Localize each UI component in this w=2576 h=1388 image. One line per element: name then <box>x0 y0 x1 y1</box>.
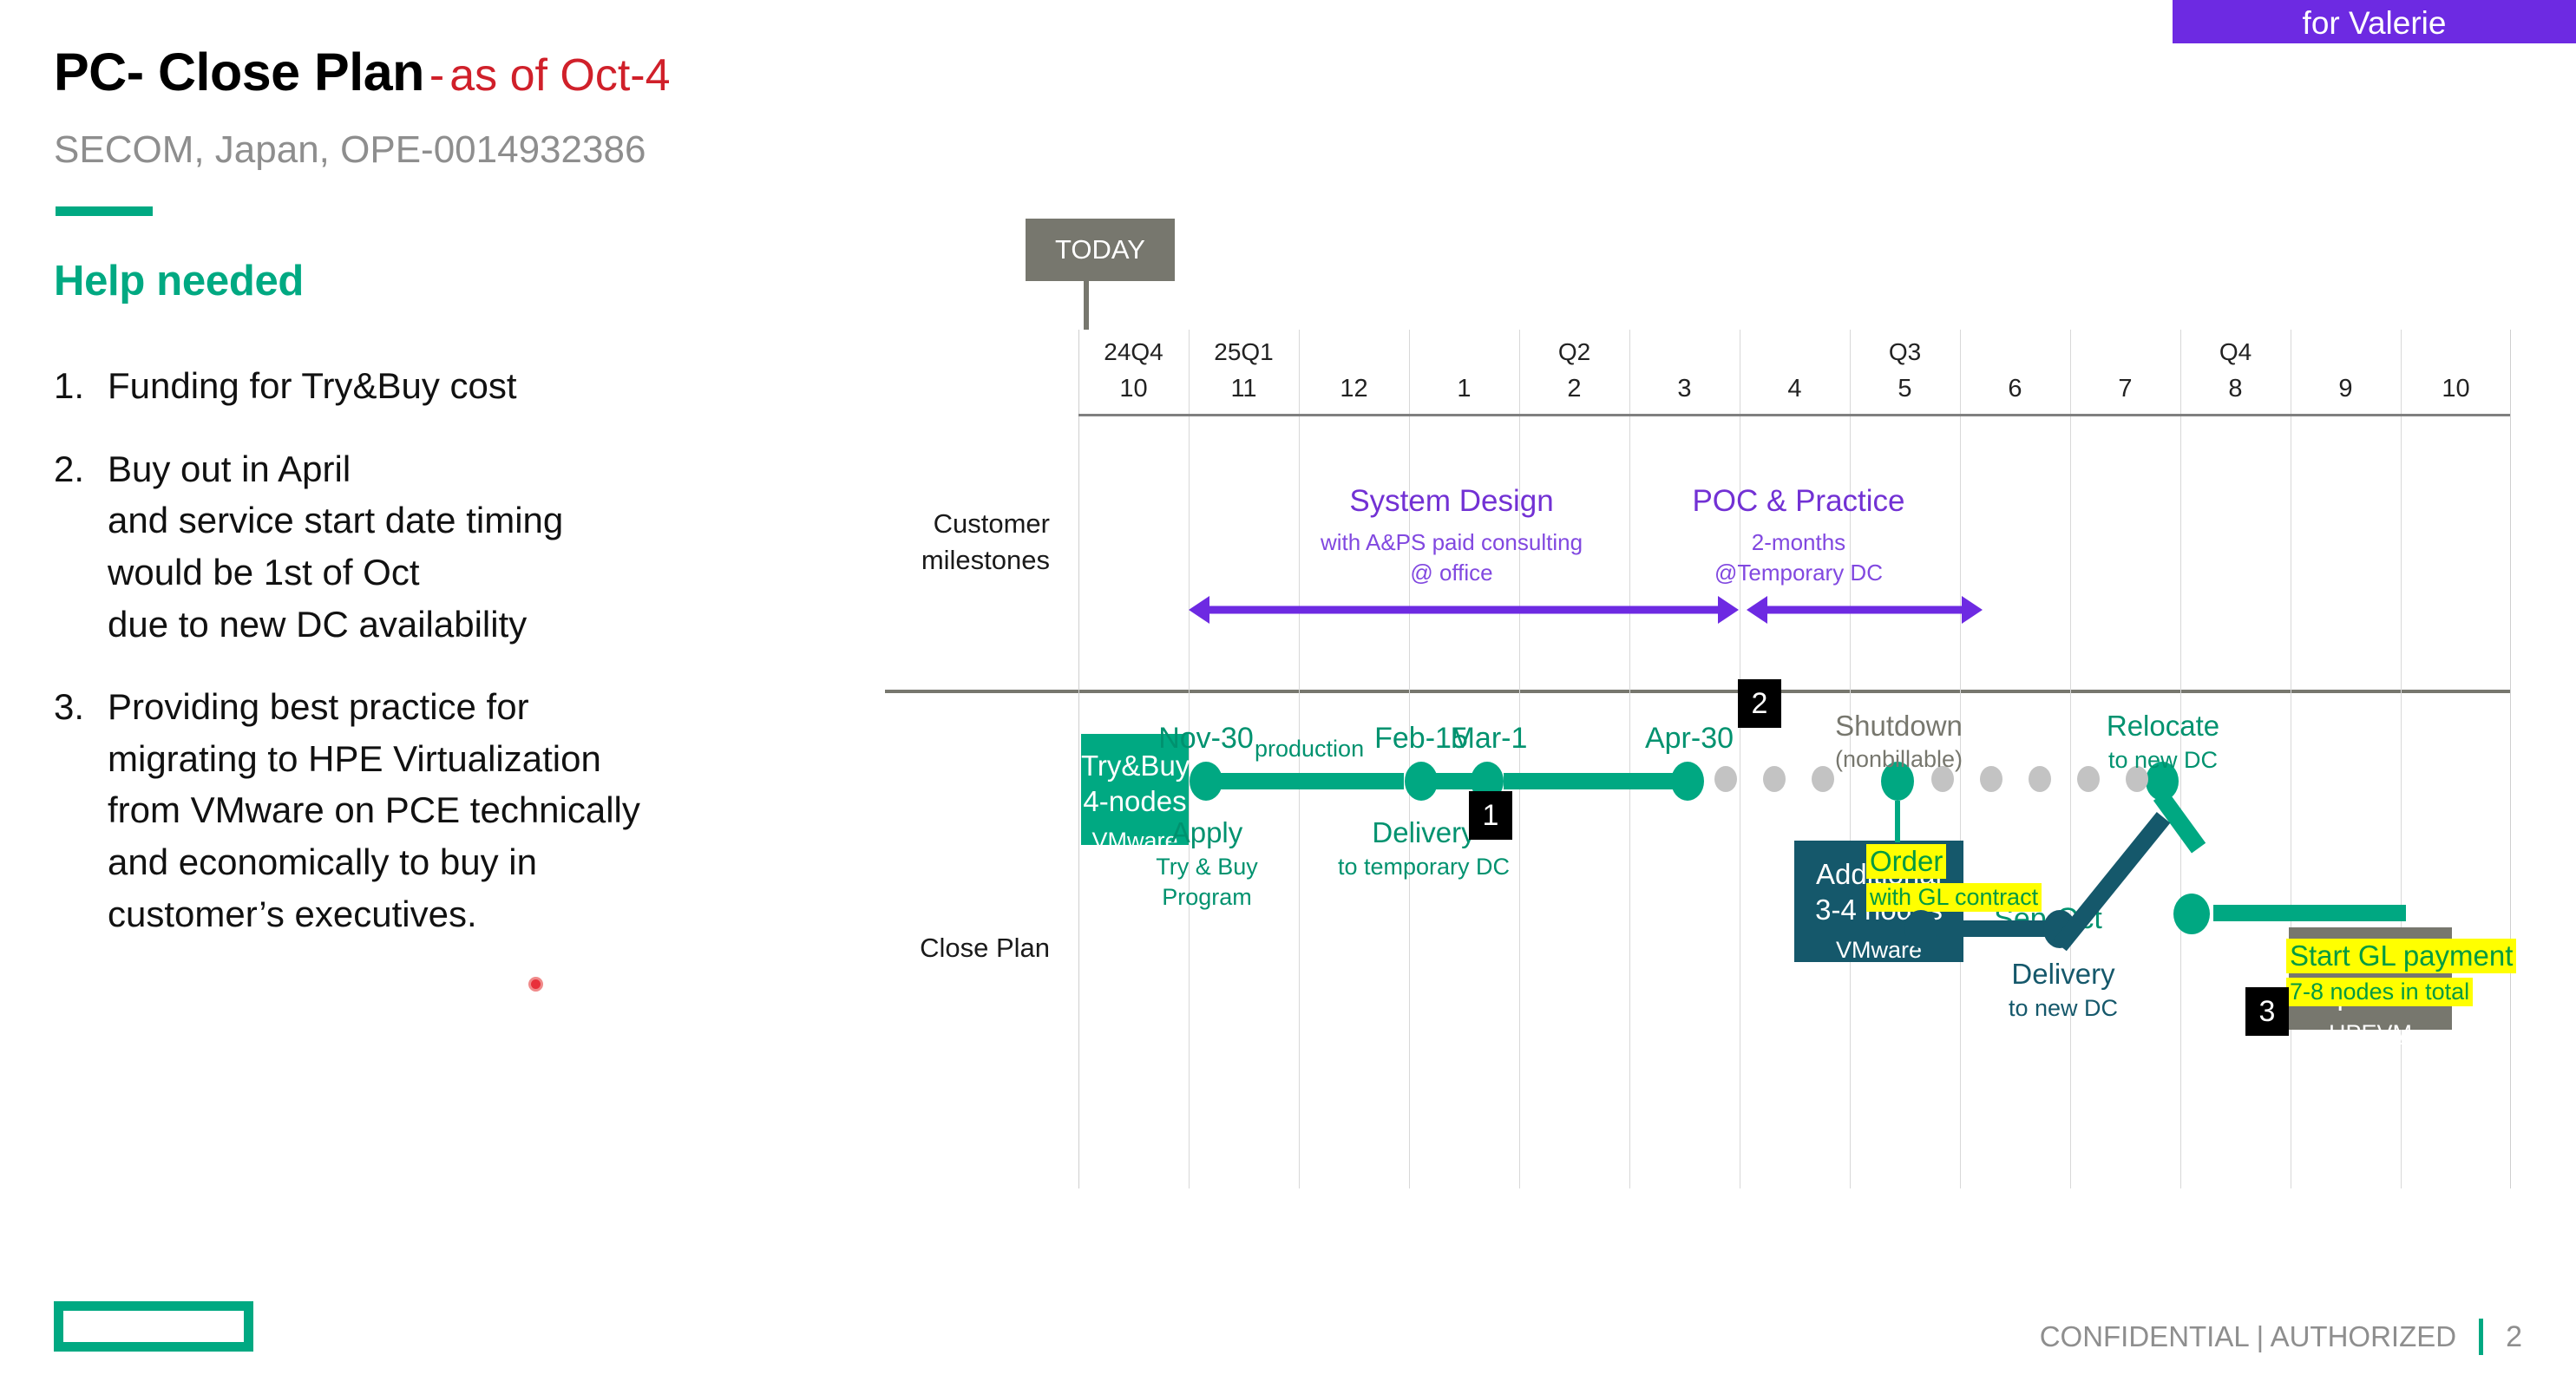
order-stem <box>1895 801 1900 842</box>
chip-sub: HPEVM <box>2289 1020 2452 1047</box>
row-label-customer-milestones: Customermilestones <box>885 506 1050 579</box>
shutdown-sub: (nonbillable) <box>1797 744 2001 775</box>
bar-green-right <box>2213 905 2406 921</box>
relocate-sub: to new DC <box>2085 745 2241 776</box>
label-relocate: Relocate to new DC <box>2085 708 2241 776</box>
title-main: PC- Close Plan <box>54 43 424 101</box>
quarter-label: Q2 <box>1519 338 1629 366</box>
node-apr-30 <box>1671 762 1704 801</box>
milestone-title-system-design: System Design <box>1252 484 1651 519</box>
hpe-logo <box>54 1301 253 1352</box>
list-item-text: Buy out in April and service start date … <box>108 443 563 651</box>
milestone-title-poc-practice: POC & Practice <box>1616 484 1981 519</box>
bar-teal-1 <box>1920 920 2061 937</box>
node-feb-15 <box>1405 762 1438 801</box>
list-item: 3. Providing best practice for migrating… <box>54 681 861 940</box>
badge-1: 1 <box>1469 791 1512 840</box>
quarter-label: Q4 <box>2180 338 2291 366</box>
node-teal-start <box>1904 910 1937 948</box>
help-needed-heading: Help needed <box>54 257 304 305</box>
quarter-label: 24Q4 <box>1078 338 1189 366</box>
quarter-label: Q3 <box>1850 338 1960 366</box>
list-item-text: Funding for Try&Buy cost <box>108 360 517 412</box>
month-label: 8 <box>2180 375 2291 403</box>
bar-green-1 <box>1213 773 1404 789</box>
month-label: 7 <box>2070 375 2180 403</box>
label-production: production <box>1255 736 1364 763</box>
subtitle: SECOM, Japan, OPE-0014932386 <box>54 128 646 172</box>
list-item: 1. Funding for Try&Buy cost <box>54 360 861 412</box>
footer-classification: CONFIDENTIAL | AUTHORIZED <box>2040 1320 2456 1353</box>
dot-gray <box>1714 766 1737 792</box>
highlight-order-sub: with GL contract <box>1866 883 2042 912</box>
milestone-sub-poc-practice: 2-months @Temporary DC <box>1616 527 1981 587</box>
node-sep-oct <box>2173 894 2210 934</box>
month-label: 12 <box>1299 375 1409 403</box>
footer: CONFIDENTIAL | AUTHORIZED 2 <box>2040 1319 2522 1355</box>
chip-sub: VMware <box>1794 937 1963 964</box>
milestone-sub-system-design: with A&PS paid consulting @ office <box>1226 527 1677 587</box>
list-item: 2. Buy out in April and service start da… <box>54 443 861 651</box>
title-as-of: as of Oct-4 <box>449 50 670 101</box>
footer-separator <box>2479 1319 2483 1355</box>
banner-as-of-valerie: as of October-4 for Valerie <box>2173 0 2576 43</box>
page-title: PC- Close Plan-as of Oct-4 <box>54 42 671 102</box>
list-item-text: Providing best practice for migrating to… <box>108 681 640 940</box>
highlight-order: Order <box>1866 844 1946 879</box>
row-label-close-plan: Close Plan <box>885 930 1050 966</box>
timeline-header-rule <box>1078 414 2510 416</box>
event-detail-apply: Apply Try & Buy Program <box>1133 815 1281 913</box>
timeline-grid: 24Q4 25Q1 Q2 Q3 Q4 10 11 12 1 2 3 4 5 6 … <box>1078 330 2510 1188</box>
shutdown-title: Shutdown <box>1797 708 2001 744</box>
month-label: 1 <box>1409 375 1519 403</box>
month-label: 4 <box>1740 375 1850 403</box>
dot-gray <box>2029 766 2051 792</box>
today-flag-stem <box>1084 281 1089 330</box>
highlight-gl-nodes-total: 7-8 nodes in total <box>2286 978 2473 1006</box>
highlight-start-gl-payment: Start GL payment <box>2286 939 2516 973</box>
delivery-sub: to new DC <box>1985 993 2141 1024</box>
event-detail-sub: Try & Buy Program <box>1133 852 1281 913</box>
month-label: 11 <box>1189 375 1299 403</box>
month-label: 3 <box>1629 375 1740 403</box>
node-nov-30 <box>1190 762 1222 801</box>
dot-gray <box>1763 766 1786 792</box>
month-label: 2 <box>1519 375 1629 403</box>
event-detail-title: Apply <box>1133 815 1281 852</box>
badge-2: 2 <box>1738 679 1781 728</box>
label-delivery-new-dc: Delivery to new DC <box>1985 956 2141 1024</box>
bar-green-3 <box>1504 773 1673 789</box>
relocate-title: Relocate <box>2085 708 2241 745</box>
help-needed-list: 1. Funding for Try&Buy cost 2. Buy out i… <box>54 360 861 971</box>
month-label: 9 <box>2291 375 2401 403</box>
cursor-pointer <box>528 977 543 992</box>
list-item-number: 1. <box>54 360 108 412</box>
label-shutdown: Shutdown (nonbillable) <box>1797 708 2001 775</box>
month-label: 5 <box>1850 375 1960 403</box>
slide-canvas: as of October-4 for Valerie PC- Close Pl… <box>0 0 2576 1388</box>
bar-green-2 <box>1434 773 1473 789</box>
month-label: 10 <box>2401 375 2511 403</box>
delivery-title: Delivery <box>1985 956 2141 993</box>
month-label: 6 <box>1960 375 2070 403</box>
event-label-mar-1: Mar-1 <box>1411 722 1567 756</box>
chip-title: Try&Buy 4-nodes <box>1081 748 1189 820</box>
list-item-number: 3. <box>54 681 108 940</box>
banner-line2: for Valerie <box>2173 3 2576 43</box>
list-item-number: 2. <box>54 443 108 651</box>
month-label: 10 <box>1078 375 1189 403</box>
badge-3: 3 <box>2245 987 2289 1036</box>
quarter-label: 25Q1 <box>1189 338 1299 366</box>
title-dash: - <box>424 50 449 101</box>
today-flag: TODAY <box>1026 219 1175 281</box>
footer-page-number: 2 <box>2506 1320 2522 1354</box>
event-detail-sub: to temporary DC <box>1333 852 1515 882</box>
accent-bar <box>56 206 153 216</box>
